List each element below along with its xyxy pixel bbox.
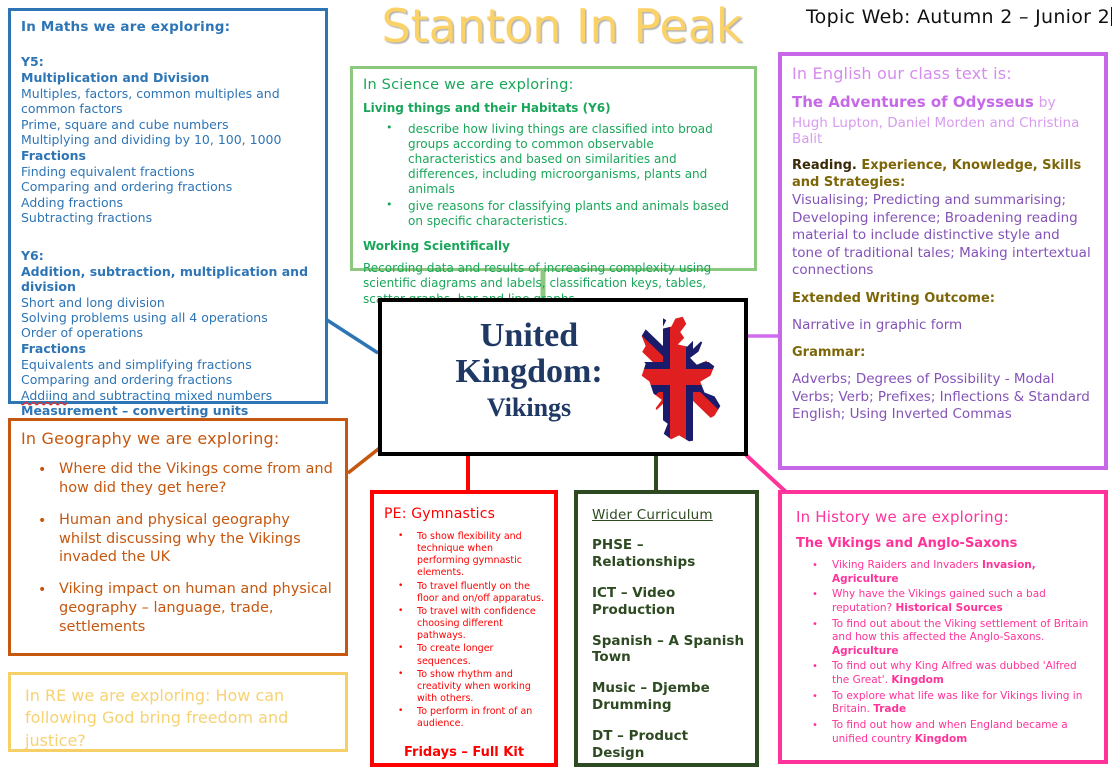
geography-heading: In Geography we are exploring: <box>21 429 335 448</box>
maths-line: Order of operations <box>21 325 315 340</box>
pe-bullet-list: To show flexibility and technique when p… <box>384 531 544 731</box>
pe-heading: PE: Gymnastics <box>384 506 544 522</box>
maths-line: Comparing and ordering fractions <box>21 179 315 194</box>
english-box: In English our class text is: The Advent… <box>778 52 1108 470</box>
maths-line: Solving problems using all 4 operations <box>21 310 315 325</box>
maths-line: Finding equivalent fractions <box>21 164 315 179</box>
english-heading: In English our class text is: <box>792 64 1094 83</box>
science-bullet-list: describe how living things are classifie… <box>363 122 744 229</box>
list-item: To find out why King Alfred was dubbed '… <box>832 660 1094 687</box>
centre-title: United Kingdom: Vikings <box>404 318 654 422</box>
list-item: To create longer sequences. <box>417 643 544 667</box>
history-bullet-key: Agriculture <box>832 645 899 657</box>
english-extended-label: Extended Writing Outcome: <box>792 291 1094 308</box>
english-grammar-label: Grammar: <box>792 345 1094 362</box>
list-item: To show flexibility and technique when p… <box>417 531 544 580</box>
uk-flag-map-icon <box>627 312 732 448</box>
history-bullet-text: Viking Raiders and Invaders <box>832 559 982 571</box>
history-bullet-text: To find out about the Viking settlement … <box>832 618 1088 644</box>
page-title: Stanton In Peak <box>352 2 772 50</box>
text-caret <box>1111 7 1112 26</box>
history-subheading: The Vikings and Anglo-Saxons <box>796 536 1094 551</box>
topic-web-page: Stanton In Peak Topic Web: Autumn 2 – Ju… <box>0 0 1113 767</box>
maths-y5-group-0-title: Multiplication and Division <box>21 70 315 85</box>
centre-line-1: United <box>480 317 578 354</box>
maths-y6-label: Y6: <box>21 248 315 263</box>
english-reading-dark: Reading. <box>792 158 857 173</box>
maths-line: Short and long division <box>21 295 315 310</box>
maths-line: Comparing and ordering fractions <box>21 372 315 387</box>
english-authors: Hugh Lupton, Daniel Morden and Christina… <box>792 115 1094 149</box>
maths-heading: In Maths we are exploring: <box>21 19 315 35</box>
list-item: To travel with confidence choosing diffe… <box>417 606 544 642</box>
maths-line: Multiples, factors, common multiples and… <box>21 86 315 117</box>
english-grammar-body: Adverbs; Degrees of Possibility - Modal … <box>792 371 1094 424</box>
science-topic: Living things and their Habitats (Y6) <box>363 101 744 115</box>
maths-line-rest: and subtracting mixed numbers <box>68 388 272 403</box>
pe-footer: Fridays – Full Kit <box>404 745 544 760</box>
english-extended-body: Narrative in graphic form <box>792 317 1094 335</box>
history-box: In History we are exploring: The Vikings… <box>778 490 1108 764</box>
list-item: To show rhythm and creativity when worki… <box>417 669 544 705</box>
maths-y6-group-2-title: Measurement – converting units <box>21 403 315 418</box>
english-text-title: The Adventures of Odysseus <box>792 93 1034 111</box>
maths-line: Multiplying and dividing by 10, 100, 100… <box>21 132 315 147</box>
english-class-text: The Adventures of Odysseus by <box>792 93 1094 113</box>
re-line-2: following God bring freedom and justice? <box>25 707 335 752</box>
list-item: To travel fluently on the floor and on/o… <box>417 581 544 605</box>
science-working-heading: Working Scientifically <box>363 239 744 253</box>
maths-y5-label: Y5: <box>21 54 315 69</box>
geography-bullet-list: Where did the Vikings come from and how … <box>21 460 335 637</box>
science-box: In Science we are exploring: Living thin… <box>350 66 757 271</box>
english-reading-body: Visualising; Predicting and summarising;… <box>792 192 1094 280</box>
re-line-1: In RE we are exploring: How can <box>25 685 335 707</box>
history-bullet-text: To explore what life was like for Viking… <box>832 690 1082 716</box>
list-item: To find out how and when England became … <box>832 719 1094 746</box>
history-bullet-key: Kingdom <box>915 733 967 745</box>
connector-maths <box>327 320 378 353</box>
re-box: In RE we are exploring: How can followin… <box>8 672 348 752</box>
list-item: describe how living things are classifie… <box>408 122 744 198</box>
maths-box: In Maths we are exploring: Y5: Multiplic… <box>8 8 328 404</box>
geography-box: In Geography we are exploring: Where did… <box>8 418 348 656</box>
topic-web-label: Topic Web: Autumn 2 – Junior 2 <box>806 6 1112 28</box>
wider-item: Music – Djembe Drumming <box>592 680 745 714</box>
wider-item: Spanish – A Spanish Town <box>592 633 745 667</box>
misspelled-word: Addiing <box>21 388 68 403</box>
list-item: Viking impact on human and physical geog… <box>59 580 335 637</box>
history-bullet-key: Historical Sources <box>895 602 1002 614</box>
wider-item: DT – Product Design <box>592 728 745 762</box>
centre-line-2: Kingdom: <box>455 353 602 390</box>
list-item: give reasons for classifying plants and … <box>408 199 744 229</box>
maths-line: Adding fractions <box>21 195 315 210</box>
maths-line: Subtracting fractions <box>21 210 315 225</box>
maths-line: Prime, square and cube numbers <box>21 117 315 132</box>
maths-line: Equivalents and simplifying fractions <box>21 357 315 372</box>
maths-y5-group-1-title: Fractions <box>21 148 315 163</box>
pe-box: PE: Gymnastics To show flexibility and t… <box>370 490 558 767</box>
history-heading: In History we are exploring: <box>796 508 1094 526</box>
history-bullet-text: To find out why King Alfred was dubbed '… <box>832 660 1077 686</box>
list-item: To find out about the Viking settlement … <box>832 618 1094 659</box>
maths-line-misspelled: Addiing and subtracting mixed numbers <box>21 388 315 403</box>
wider-curriculum-box: Wider Curriculum PHSE – Relationships IC… <box>574 490 759 767</box>
science-heading: In Science we are exploring: <box>363 77 744 93</box>
topic-web-text: Topic Web: Autumn 2 – Junior 2 <box>806 6 1110 28</box>
history-bullet-list: Viking Raiders and Invaders Invasion, Ag… <box>796 559 1094 746</box>
history-bullet-key: Kingdom <box>891 674 943 686</box>
list-item: Viking Raiders and Invaders Invasion, Ag… <box>832 559 1094 586</box>
centre-topic-box: United Kingdom: Vikings <box>378 298 748 456</box>
wider-heading: Wider Curriculum <box>592 507 745 523</box>
centre-line-3: Vikings <box>404 394 654 422</box>
list-item: Human and physical geography whilst disc… <box>59 511 335 568</box>
english-reading-label: Reading. Experience, Knowledge, Skills a… <box>792 158 1094 192</box>
maths-y6-group-0-title: Addition, subtraction, multiplication an… <box>21 264 315 294</box>
list-item: To explore what life was like for Viking… <box>832 690 1094 717</box>
list-item: Why have the Vikings gained such a bad r… <box>832 588 1094 615</box>
maths-y6-group-1-title: Fractions <box>21 341 315 356</box>
list-item: Where did the Vikings come from and how … <box>59 460 335 498</box>
history-bullet-key: Trade <box>873 703 906 715</box>
list-item: To perform in front of an audience. <box>417 706 544 730</box>
english-by: by <box>1039 95 1056 111</box>
wider-item: ICT – Video Production <box>592 585 745 619</box>
wider-item: PHSE – Relationships <box>592 537 745 571</box>
